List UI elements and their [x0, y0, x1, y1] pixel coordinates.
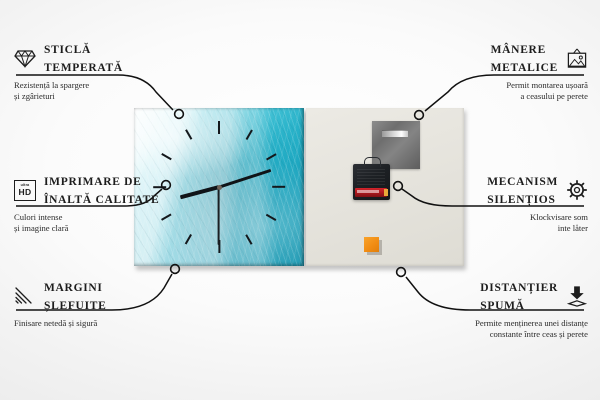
feature-header: STICLĂ TEMPERATĂ [14, 40, 123, 76]
feature-header: DISTANȚIER SPUMĂ [475, 278, 588, 314]
feature-title: MARGINI ȘLEFUITE [44, 278, 106, 314]
feature-margini-slefuite: MARGINI ȘLEFUITE Finisare netedă și sigu… [14, 278, 106, 329]
feature-description-line2: a ceasului pe perete [491, 91, 588, 102]
feature-title: IMPRIMARE DE ÎNALTĂ CALITATE [44, 172, 159, 208]
product-infographic: STICLĂ TEMPERATĂ Rezistență la spargere … [0, 0, 600, 400]
feature-mecanism-silentios: MECANISM SILENȚIOS Klockvisare som inte … [487, 172, 588, 233]
feature-description-line2: și zgârieturi [14, 91, 123, 102]
feature-description-line2: constante între ceas și perete [475, 329, 588, 340]
feature-manere-metalice: MÂNERE METALICE Permit montarea ușoară a… [491, 40, 588, 101]
feature-description-line1: Permite menținerea unei distanțe [475, 318, 588, 329]
leader-endpoint-manere [415, 111, 424, 120]
leader-endpoint-imprimare [162, 181, 171, 190]
ultra-hd-large-text: HD [19, 188, 32, 197]
feature-description-line1: Rezistență la spargere [14, 80, 123, 91]
polished-edges-icon [14, 285, 36, 307]
leader-endpoint-sticla [175, 110, 184, 119]
leader-endpoint-margini [171, 265, 180, 274]
feature-title: DISTANȚIER SPUMĂ [480, 278, 558, 314]
diamond-icon [14, 47, 36, 69]
picture-hanger-icon [566, 47, 588, 69]
leader-endpoint-distantier [397, 268, 406, 277]
feature-header: ultra HD IMPRIMARE DE ÎNALTĂ CALITATE [14, 172, 159, 208]
feature-description-line1: Permit montarea ușoară [491, 80, 588, 91]
gear-icon [566, 179, 588, 201]
feature-description-line2: și imagine clară [14, 223, 159, 234]
feature-header: MECANISM SILENȚIOS [487, 172, 588, 208]
feature-description-line2: inte låter [487, 223, 588, 234]
feature-title: MECANISM SILENȚIOS [487, 172, 558, 208]
feature-header: MARGINI ȘLEFUITE [14, 278, 106, 314]
feature-title: STICLĂ TEMPERATĂ [44, 40, 123, 76]
ultra-hd-icon: ultra HD [14, 179, 36, 201]
foam-spacer-arrow-icon [566, 285, 588, 307]
feature-description-line1: Culori intense [14, 212, 159, 223]
feature-title: MÂNERE METALICE [491, 40, 558, 76]
leader-endpoint-mecanism [394, 182, 403, 191]
feature-description-line1: Klockvisare som [487, 212, 588, 223]
feature-description-line1: Finisare netedă și sigură [14, 318, 106, 329]
feature-sticla-temperata: STICLĂ TEMPERATĂ Rezistență la spargere … [14, 40, 123, 101]
feature-header: MÂNERE METALICE [491, 40, 588, 76]
feature-imprimare-inalta-calitate: ultra HD IMPRIMARE DE ÎNALTĂ CALITATE Cu… [14, 172, 159, 233]
feature-distantier-spuma: DISTANȚIER SPUMĂ Permite menținerea unei… [475, 278, 588, 339]
